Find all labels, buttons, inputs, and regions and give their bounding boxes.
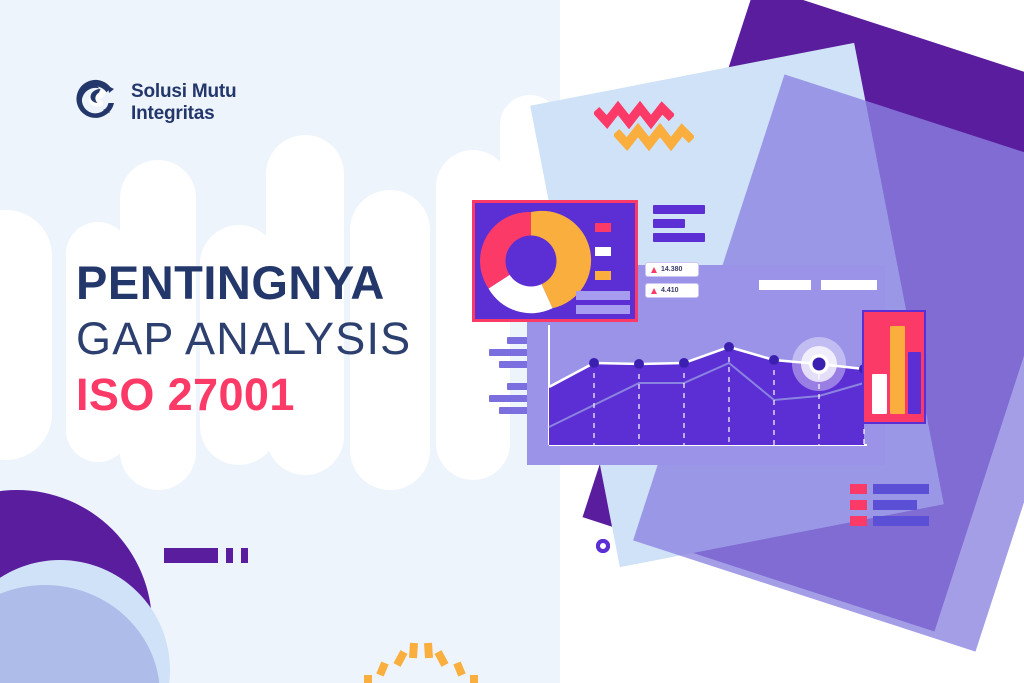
decor-bottom-bar-group [164,548,248,563]
badge-value-1-text: 14.380 [661,266,682,273]
dot-3 [596,539,610,553]
brand-name-line2: Integritas [131,103,236,125]
bar-3 [908,352,921,414]
badge-value-1[interactable]: 14.380 [645,262,699,277]
list-item-2-bar [873,500,917,510]
brand-name-line1: Solusi Mutu [131,81,236,103]
brand-logo: Solusi Mutu Integritas [72,76,236,129]
decor-pill-1 [0,210,52,460]
triangle-up-icon [651,267,657,273]
list-item-1 [850,484,929,494]
bar-2 [890,326,905,414]
list-item-2-marker [850,500,867,510]
headline-line-1: PENTINGNYA [76,255,496,311]
decor-bar-tick-1 [226,548,233,563]
sunburst-icon [356,625,486,683]
brand-name: Solusi Mutu Integritas [131,81,236,125]
banner-root: { "brand": { "logo_icon": "circular-arro… [0,0,1024,683]
donut-legend-swatch-3 [595,271,611,280]
badge-value-2-text: 4.410 [661,287,679,294]
list-item-3-bar [873,516,929,526]
list-item-1-bar [873,484,929,494]
bar-chart-card [862,310,926,424]
headline-line-2: GAP ANALYSIS [76,311,496,367]
list-item-3-marker [850,516,867,526]
decor-hbars-topright [653,205,713,239]
donut-footer-bar-1 [576,291,630,300]
headline-block: PENTINGNYA GAP ANALYSIS ISO 27001 [76,255,496,423]
donut-legend-swatch-1 [595,223,611,232]
zigzag-orange-icon [614,122,694,157]
list-item-2 [850,500,917,510]
decor-bar-tick-2 [241,548,248,563]
headline-line-3: ISO 27001 [76,367,496,423]
bar-1 [872,374,887,414]
circular-arrow-s-logo-icon [72,76,120,129]
donut-chart-card [472,200,638,322]
donut-chart-plot [475,203,635,319]
list-item-3 [850,516,929,526]
list-item-1-marker [850,484,867,494]
triangle-up-icon [651,288,657,294]
donut-legend-swatch-2 [595,247,611,256]
donut-footer-bar-2 [576,305,630,314]
badge-value-2[interactable]: 4.410 [645,283,699,298]
decor-bar-long [164,548,218,563]
